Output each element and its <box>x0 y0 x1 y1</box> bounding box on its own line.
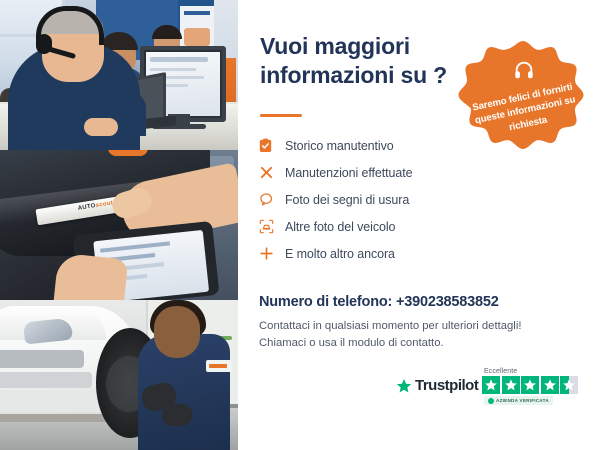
feature-label: Altre foto del veicolo <box>285 220 395 234</box>
trustpilot-rating: Eccellente <box>482 368 578 394</box>
feature-label: E molto altro ancora <box>285 247 395 261</box>
uniform-logo-shape <box>206 360 232 372</box>
star-5-half <box>560 376 578 394</box>
star-2 <box>502 376 520 394</box>
worker-1-hand-shape <box>84 118 118 136</box>
verified-check-icon <box>488 398 494 404</box>
content-panel: Vuoi maggiori informazioni su ? Saremo f… <box>238 0 600 450</box>
rating-caption: Eccellente <box>482 368 578 375</box>
speech-bubble-icon <box>259 192 285 207</box>
title-underline <box>260 114 302 117</box>
feature-item-storico[interactable]: Storico manutentivo <box>259 132 549 159</box>
badge-text: Saremo felici di fornirti queste informa… <box>466 58 581 141</box>
trustpilot-wordmark: Trustpilot <box>415 377 478 394</box>
bumper-shape <box>0 390 106 412</box>
verified-badge: AZIENDA VERIFICATA <box>484 396 553 405</box>
photo-column: AUTOscout <box>0 0 238 450</box>
contact-line-2: Chiamaci o usa il modulo di contatto. <box>259 337 444 349</box>
feature-item-altre-foto[interactable]: Altre foto del veicolo <box>259 213 549 240</box>
trustpilot-widget[interactable]: Trustpilot Eccellente <box>396 368 596 420</box>
trustpilot-logo: Trustpilot <box>396 377 478 394</box>
promo-card: AUTOscout <box>0 0 600 450</box>
damage-inspection-photo: AUTOscout <box>0 150 238 300</box>
feature-label: Manutenzioni effettuate <box>285 166 412 180</box>
grille-lower-shape <box>0 372 92 388</box>
feature-list: Storico manutentivo Manutenzioni effettu… <box>259 132 549 267</box>
feature-item-manutenzioni[interactable]: Manutenzioni effettuate <box>259 159 549 186</box>
star-4 <box>541 376 559 394</box>
star-3 <box>521 376 539 394</box>
feature-item-foto-usura[interactable]: Foto dei segni di usura <box>259 186 549 213</box>
orange-accent-shape <box>108 150 148 156</box>
plus-icon <box>259 246 285 261</box>
trustpilot-star-icon <box>396 378 412 394</box>
page-title: Vuoi maggiori informazioni su ? <box>260 32 470 90</box>
feature-label: Foto dei segni di usura <box>285 193 409 207</box>
grille-upper-shape <box>0 350 84 368</box>
verified-label: AZIENDA VERIFICATA <box>496 398 549 403</box>
wheel-service-photo <box>0 300 238 450</box>
phone-number[interactable]: Numero di telefono: +390238583852 <box>259 294 499 310</box>
mechanic-head-shape <box>154 306 200 358</box>
rating-stars <box>482 376 578 394</box>
feature-item-altro[interactable]: E molto altro ancora <box>259 240 549 267</box>
clipboard-check-icon <box>259 138 285 153</box>
call-center-photo <box>0 0 238 150</box>
star-1 <box>482 376 500 394</box>
glove-2-shape <box>162 404 192 426</box>
holding-hand-shape <box>54 252 129 300</box>
wrench-cross-icon <box>259 165 285 180</box>
feature-label: Storico manutentivo <box>285 139 394 153</box>
contact-line-1: Contattaci in qualsiasi momento per ulte… <box>259 320 521 332</box>
car-frame-icon <box>259 219 285 234</box>
contact-description: Contattaci in qualsiasi momento per ulte… <box>259 318 579 352</box>
